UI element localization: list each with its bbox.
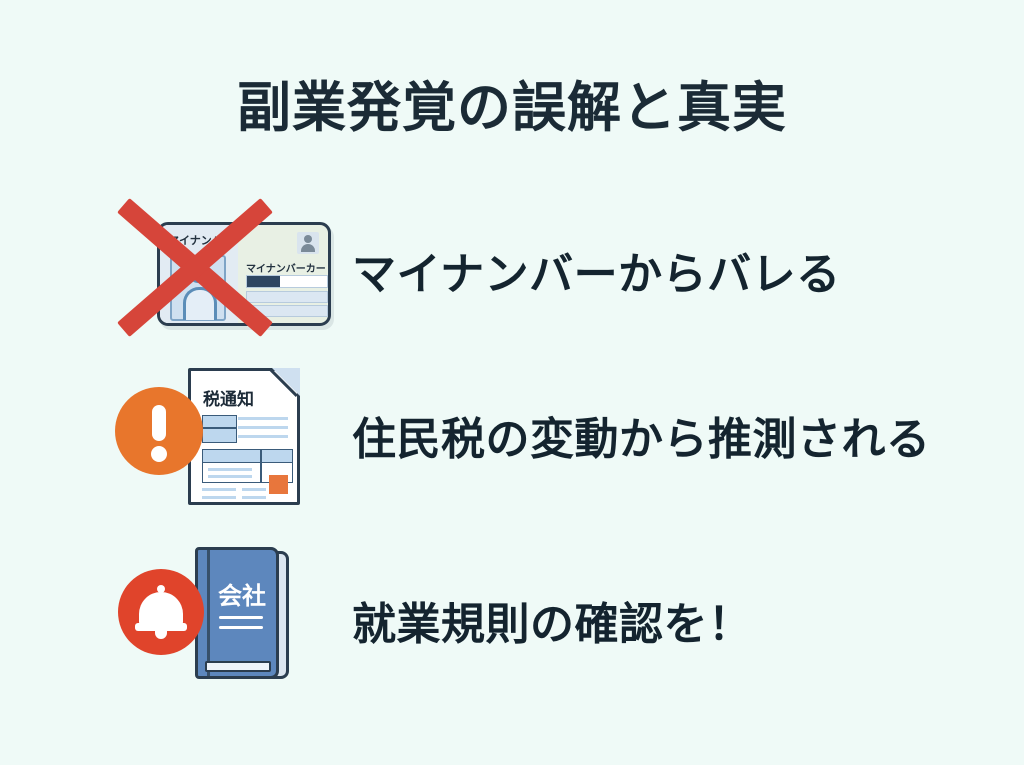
document-text-line <box>238 435 288 438</box>
card-info-line <box>246 305 328 317</box>
bell-clapper <box>155 631 167 639</box>
card-avatar-icon <box>297 232 319 254</box>
document-text-line <box>238 417 288 420</box>
table-header-band <box>203 450 292 463</box>
book-title-text: 会社 <box>218 576 266 611</box>
company-rulebook-bell-icon: 会社 <box>110 545 345 695</box>
book-underline <box>219 626 263 629</box>
card-top-text: マイナンバ <box>168 232 223 248</box>
bullet-row-mynumber: マイナンバ マイナンバーカード マイナンバーからバレる <box>110 195 990 345</box>
bell-alert-icon <box>118 569 204 655</box>
mynumber-card-crossed-out-icon: マイナンバ マイナンバーカード <box>110 195 345 345</box>
book-spine <box>207 550 210 676</box>
document-text-line <box>202 488 236 491</box>
exclamation-dot <box>151 446 167 462</box>
document-text-line <box>242 488 266 491</box>
tax-notice-document-graphic: 税通知 <box>188 368 300 505</box>
card-info-line <box>246 291 328 303</box>
document-blue-box <box>202 415 237 443</box>
table-cell-line <box>208 475 252 478</box>
document-text-line <box>202 496 236 499</box>
bell-body <box>139 592 183 626</box>
table-column-divider <box>260 450 262 482</box>
document-title-text: 税通知 <box>203 385 254 410</box>
page-fold-corner <box>272 368 300 396</box>
card-portrait-photo <box>170 255 226 321</box>
tax-notice-warning-icon: 税通知 <box>110 360 345 510</box>
bullet-label-residence-tax: 住民税の変動から推測される <box>352 403 931 467</box>
bullet-row-residence-tax: 税通知 住民税の変 <box>110 360 990 510</box>
table-cell-line <box>208 468 252 471</box>
bullet-label-mynumber: マイナンバーからバレる <box>352 238 841 302</box>
document-text-line <box>238 426 288 429</box>
bullet-label-work-rules: 就業規則の確認を！ <box>352 588 753 652</box>
card-number-bar <box>246 275 328 288</box>
company-rulebook-graphic: 会社 <box>195 547 279 679</box>
bell-base <box>135 623 187 631</box>
document-text-line <box>242 496 266 499</box>
card-label-text: マイナンバーカード <box>246 260 331 275</box>
bullet-row-work-rules: 会社 就業規則の確認を！ <box>110 545 990 695</box>
slide-canvas: 副業発覚の誤解と真実 マイナンバ マイナンバーカード マイナンバーからバレる <box>0 0 1024 765</box>
page-title: 副業発覚の誤解と真実 <box>0 78 1024 137</box>
book-underline <box>219 616 263 619</box>
exclamation-bar <box>152 405 166 441</box>
exclamation-warning-icon <box>115 387 203 475</box>
book-pages-strip <box>205 661 271 672</box>
mynumber-card-graphic: マイナンバ マイナンバーカード <box>157 222 331 326</box>
document-stamp-square <box>269 475 288 494</box>
